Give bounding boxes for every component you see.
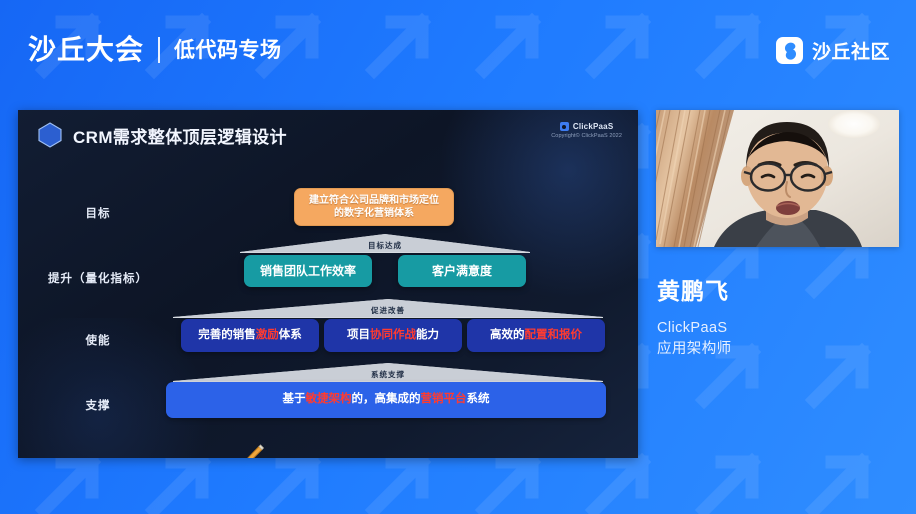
enable-box-3-highlight: 配置和报价 [525, 329, 583, 341]
enable-box-3-text: 高效的配置和报价 [490, 328, 582, 344]
speaker-info: 黄鹏飞 ClickPaaS 应用架构师 [657, 278, 907, 361]
support-box[interactable]: 基于敏捷架构的，高集成的营销平台系统 [166, 382, 606, 418]
page-header: 沙丘大会 低代码专场 沙丘社区 [0, 0, 916, 100]
event-title: 沙丘大会 [28, 36, 144, 64]
enable-box-2-pre: 项目 [347, 329, 370, 341]
enable-box-2-post: 能力 [416, 329, 439, 341]
goal-box[interactable]: 建立符合公司品牌和市场定位 的数字化营销体系 [294, 188, 454, 226]
metric-box-2[interactable]: 客户满意度 [398, 255, 526, 287]
row-label-enable: 使能 [18, 332, 178, 348]
event-brand: 沙丘大会 低代码专场 [28, 36, 282, 64]
row-label-support: 支撑 [18, 397, 178, 413]
connector-system-support-label: 系统支撑 [173, 369, 603, 380]
community-name: 沙丘社区 [812, 37, 890, 64]
enable-box-2[interactable]: 项目协同作战能力 [324, 319, 462, 352]
goal-box-line2: 的数字化营销体系 [334, 207, 414, 221]
connector-improvement-label: 促进改善 [173, 305, 603, 316]
support-box-text: 基于敏捷架构的，高集成的营销平台系统 [283, 392, 490, 408]
enable-box-1[interactable]: 完善的销售激励体系 [181, 319, 319, 352]
speaker-role: 应用架构师 [657, 339, 907, 361]
metric-box-1-label: 销售团队工作效率 [260, 263, 356, 279]
speaker-name: 黄鹏飞 [657, 278, 907, 306]
enable-box-1-pre: 完善的销售 [198, 329, 256, 341]
enable-box-2-highlight: 协同作战 [370, 329, 416, 341]
diagram-rows: 目标 提升（量化指标） 使能 支撑 建立符合公司品牌和市场定位 的数字化营销体系… [18, 110, 638, 458]
support-box-highlight-1: 敏捷架构 [306, 393, 352, 405]
connector-goal-achievement: 目标达成 [240, 233, 530, 253]
connector-improvement: 促进改善 [173, 298, 603, 318]
support-box-mid: 的，高集成的 [352, 393, 421, 405]
enable-box-1-highlight: 激励 [256, 329, 279, 341]
enable-box-3[interactable]: 高效的配置和报价 [467, 319, 605, 352]
support-box-highlight-2: 营销平台 [421, 393, 467, 405]
brand-divider [158, 37, 160, 63]
metric-box-1[interactable]: 销售团队工作效率 [244, 255, 372, 287]
speaker-webcam-feed[interactable] [656, 110, 899, 247]
sandhill-s-logo-icon [776, 37, 803, 64]
pen-annotation-cursor-icon [244, 443, 266, 458]
speaker-org: ClickPaaS [657, 318, 907, 340]
support-box-post: 系统 [467, 393, 490, 405]
goal-box-line1: 建立符合公司品牌和市场定位 [309, 194, 439, 208]
enable-box-3-pre: 高效的 [490, 329, 525, 341]
row-label-goal: 目标 [18, 205, 178, 221]
event-subtitle: 低代码专场 [174, 40, 282, 61]
support-box-pre: 基于 [283, 393, 306, 405]
enable-box-1-text: 完善的销售激励体系 [198, 328, 302, 344]
connector-goal-achievement-label: 目标达成 [240, 240, 530, 251]
community-brand: 沙丘社区 [776, 37, 890, 64]
presentation-slide[interactable]: CRM需求整体顶层逻辑设计 ClickPaaS Copyright© Click… [18, 110, 638, 458]
row-label-metrics: 提升（量化指标） [18, 270, 178, 286]
enable-box-2-text: 项目协同作战能力 [347, 328, 439, 344]
enable-box-1-post: 体系 [279, 329, 302, 341]
connector-system-support: 系统支撑 [173, 362, 603, 382]
metric-box-2-label: 客户满意度 [432, 263, 492, 279]
